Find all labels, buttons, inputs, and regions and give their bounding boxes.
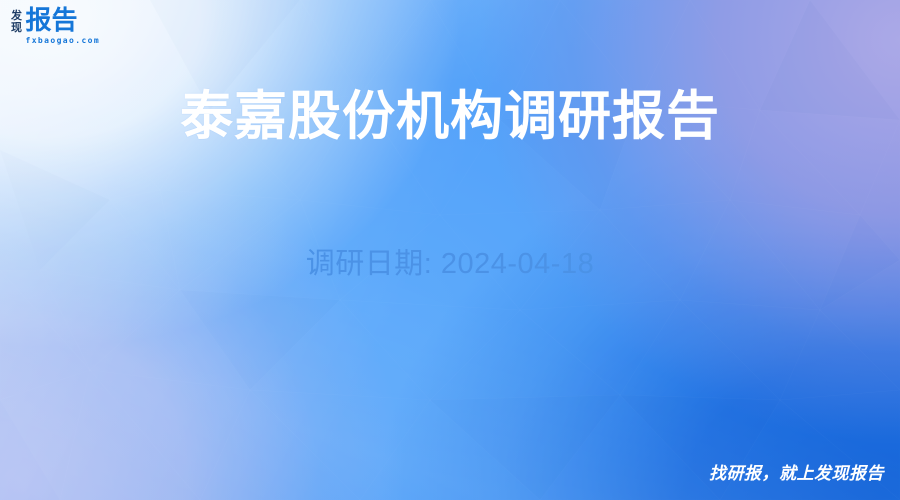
footer-slogan: 找研报，就上发现报告 [709, 463, 884, 485]
survey-date-subtitle: 调研日期: 2024-04-18 [0, 150, 900, 283]
logo-text-group: 报告 fxbaogao.com [26, 8, 101, 46]
logo-url: fxbaogao.com [26, 36, 101, 46]
report-cover-slide: 发 现 报告 fxbaogao.com 泰嘉股份机构调研报告 调研日期: 202… [0, 0, 900, 500]
cover-text-block: 泰嘉股份机构调研报告 调研日期: 2024-04-18 [0, 84, 900, 283]
logo-wordmark: 报告 [26, 8, 101, 35]
site-logo[interactable]: 发 现 报告 fxbaogao.com [11, 8, 100, 46]
page-title: 泰嘉股份机构调研报告 [0, 84, 900, 150]
logo-mark-characters: 发 现 [11, 8, 22, 34]
logo-mark-line-2: 现 [11, 22, 22, 34]
